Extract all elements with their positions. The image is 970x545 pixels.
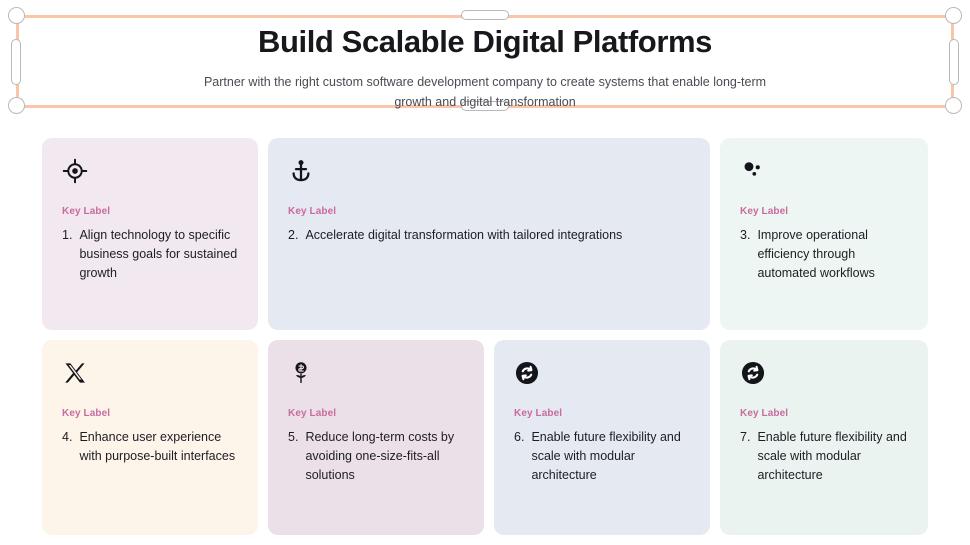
card-4-number: 4. — [62, 428, 72, 447]
card-2-text: Accelerate digital transformation with t… — [305, 226, 690, 245]
card-1-body: 1. Align technology to specific business… — [62, 226, 238, 282]
refresh-circle-icon — [740, 360, 766, 386]
card-3-body: 3. Improve operational efficiency throug… — [740, 226, 908, 282]
card-3-key-label: Key Label — [740, 206, 908, 217]
card-2-body: 2. Accelerate digital transformation wit… — [288, 226, 690, 245]
card-2-number: 2. — [288, 226, 298, 245]
card-6[interactable]: Key Label 6. Enable future flexibility a… — [494, 340, 710, 535]
card-2[interactable]: Key Label 2. Accelerate digital transfor… — [268, 138, 710, 330]
card-7[interactable]: Key Label 7. Enable future flexibility a… — [720, 340, 928, 535]
card-5-body: 5. Reduce long-term costs by avoiding on… — [288, 428, 464, 484]
card-3[interactable]: Key Label 3. Improve operational efficie… — [720, 138, 928, 330]
card-3-number: 3. — [740, 226, 750, 245]
card-5-text: Reduce long-term costs by avoiding one-s… — [305, 428, 464, 484]
refresh-circle-icon — [514, 360, 540, 386]
page-subtitle: Partner with the right custom software d… — [185, 72, 785, 113]
card-4-body: 4. Enhance user experience with purpose-… — [62, 428, 238, 466]
card-7-text: Enable future flexibility and scale with… — [757, 428, 908, 484]
page-title: Build Scalable Digital Platforms — [258, 25, 712, 60]
card-row-2: Key Label 4. Enhance user experience wit… — [42, 340, 928, 535]
card-4-key-label: Key Label — [62, 408, 238, 419]
card-4-text: Enhance user experience with purpose-bui… — [79, 428, 238, 466]
card-grid: Key Label 1. Align technology to specifi… — [42, 138, 928, 545]
card-7-key-label: Key Label — [740, 408, 908, 419]
header-text-block[interactable]: Build Scalable Digital Platforms Partner… — [16, 15, 954, 108]
card-5[interactable]: Key Label 5. Reduce long-term costs by a… — [268, 340, 484, 535]
card-3-text: Improve operational efficiency through a… — [757, 226, 908, 282]
money-flower-icon — [288, 360, 314, 386]
card-1-key-label: Key Label — [62, 206, 238, 217]
crosshair-target-icon — [62, 158, 88, 184]
card-1-number: 1. — [62, 226, 72, 245]
card-5-number: 5. — [288, 428, 298, 447]
anchor-icon — [288, 158, 314, 184]
card-6-body: 6. Enable future flexibility and scale w… — [514, 428, 690, 484]
card-6-key-label: Key Label — [514, 408, 690, 419]
card-4[interactable]: Key Label 4. Enhance user experience wit… — [42, 340, 258, 535]
card-6-number: 6. — [514, 428, 524, 447]
card-row-1: Key Label 1. Align technology to specifi… — [42, 138, 928, 330]
x-logo-icon — [62, 360, 88, 386]
card-7-body: 7. Enable future flexibility and scale w… — [740, 428, 908, 484]
card-2-key-label: Key Label — [288, 206, 690, 217]
card-1[interactable]: Key Label 1. Align technology to specifi… — [42, 138, 258, 330]
card-6-text: Enable future flexibility and scale with… — [531, 428, 690, 484]
header-content: Build Scalable Digital Platforms Partner… — [16, 15, 954, 108]
bubbles-dots-icon — [740, 158, 766, 184]
card-7-number: 7. — [740, 428, 750, 447]
card-5-key-label: Key Label — [288, 408, 464, 419]
card-1-text: Align technology to specific business go… — [79, 226, 238, 282]
